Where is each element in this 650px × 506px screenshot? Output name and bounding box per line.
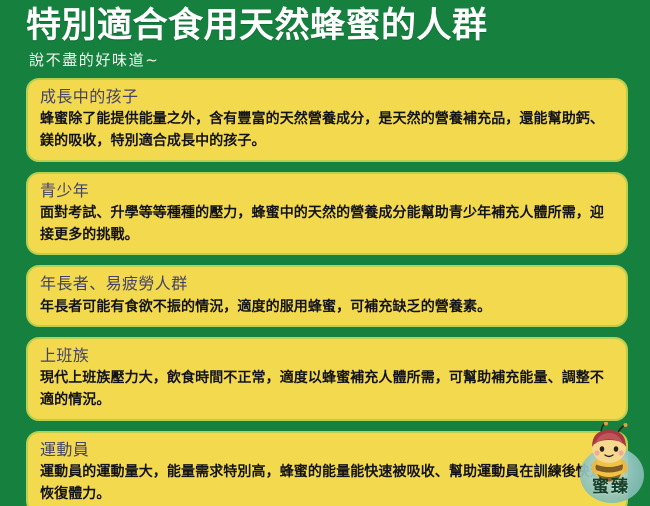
info-card-children: 成長中的孩子 蜂蜜除了能提供能量之外，含有豐富的天然營養成分，是天然的營養補充品… <box>26 78 628 162</box>
poster-header: 特別適合食用天然蜂蜜的人群 說不盡的好味道~ <box>0 0 650 71</box>
card-heading: 上班族 <box>40 344 614 367</box>
card-body: 蜂蜜除了能提供能量之外，含有豐富的天然營養成分，是天然的營養補充品，還能幫助鈣、… <box>40 109 614 152</box>
card-list: 成長中的孩子 蜂蜜除了能提供能量之外，含有豐富的天然營養成分，是天然的營養補充品… <box>0 78 650 506</box>
card-heading: 年長者、易疲勞人群 <box>40 272 614 295</box>
card-heading: 運動員 <box>40 438 614 461</box>
info-card-teenagers: 青少年 面對考試、升學等等種種的壓力，蜂蜜中的天然的營養成分能幫助青少年補充人體… <box>26 172 628 256</box>
info-card-elderly: 年長者、易疲勞人群 年長者可能有食欲不振的情況，適度的服用蜂蜜，可補充缺乏的營養… <box>26 265 628 327</box>
card-body: 面對考試、升學等等種種的壓力，蜂蜜中的天然的營養成分能幫助青少年補充人體所需，迎… <box>40 203 614 246</box>
card-body: 運動員的運動量大，能量需求特別高，蜂蜜的能量能快速被吸收、幫助運動員在訓練後快速… <box>40 462 614 505</box>
info-card-athletes: 運動員 運動員的運動量大，能量需求特別高，蜂蜜的能量能快速被吸收、幫助運動員在訓… <box>26 431 628 506</box>
poster-root: 特別適合食用天然蜂蜜的人群 說不盡的好味道~ 成長中的孩子 蜂蜜除了能提供能量之… <box>0 0 650 506</box>
page-title: 特別適合食用天然蜂蜜的人群 <box>26 6 650 47</box>
card-heading: 成長中的孩子 <box>40 85 614 108</box>
card-body: 年長者可能有食欲不振的情況，適度的服用蜂蜜，可補充缺乏的營養素。 <box>40 297 614 319</box>
card-heading: 青少年 <box>40 179 614 202</box>
info-card-office-workers: 上班族 現代上班族壓力大，飲食時間不正常，適度以蜂蜜補充人體所需，可幫助補充能量… <box>26 337 628 421</box>
card-body: 現代上班族壓力大，飲食時間不正常，適度以蜂蜜補充人體所需，可幫助補充能量、調整不… <box>40 368 614 411</box>
page-subtitle: 說不盡的好味道~ <box>29 50 650 71</box>
